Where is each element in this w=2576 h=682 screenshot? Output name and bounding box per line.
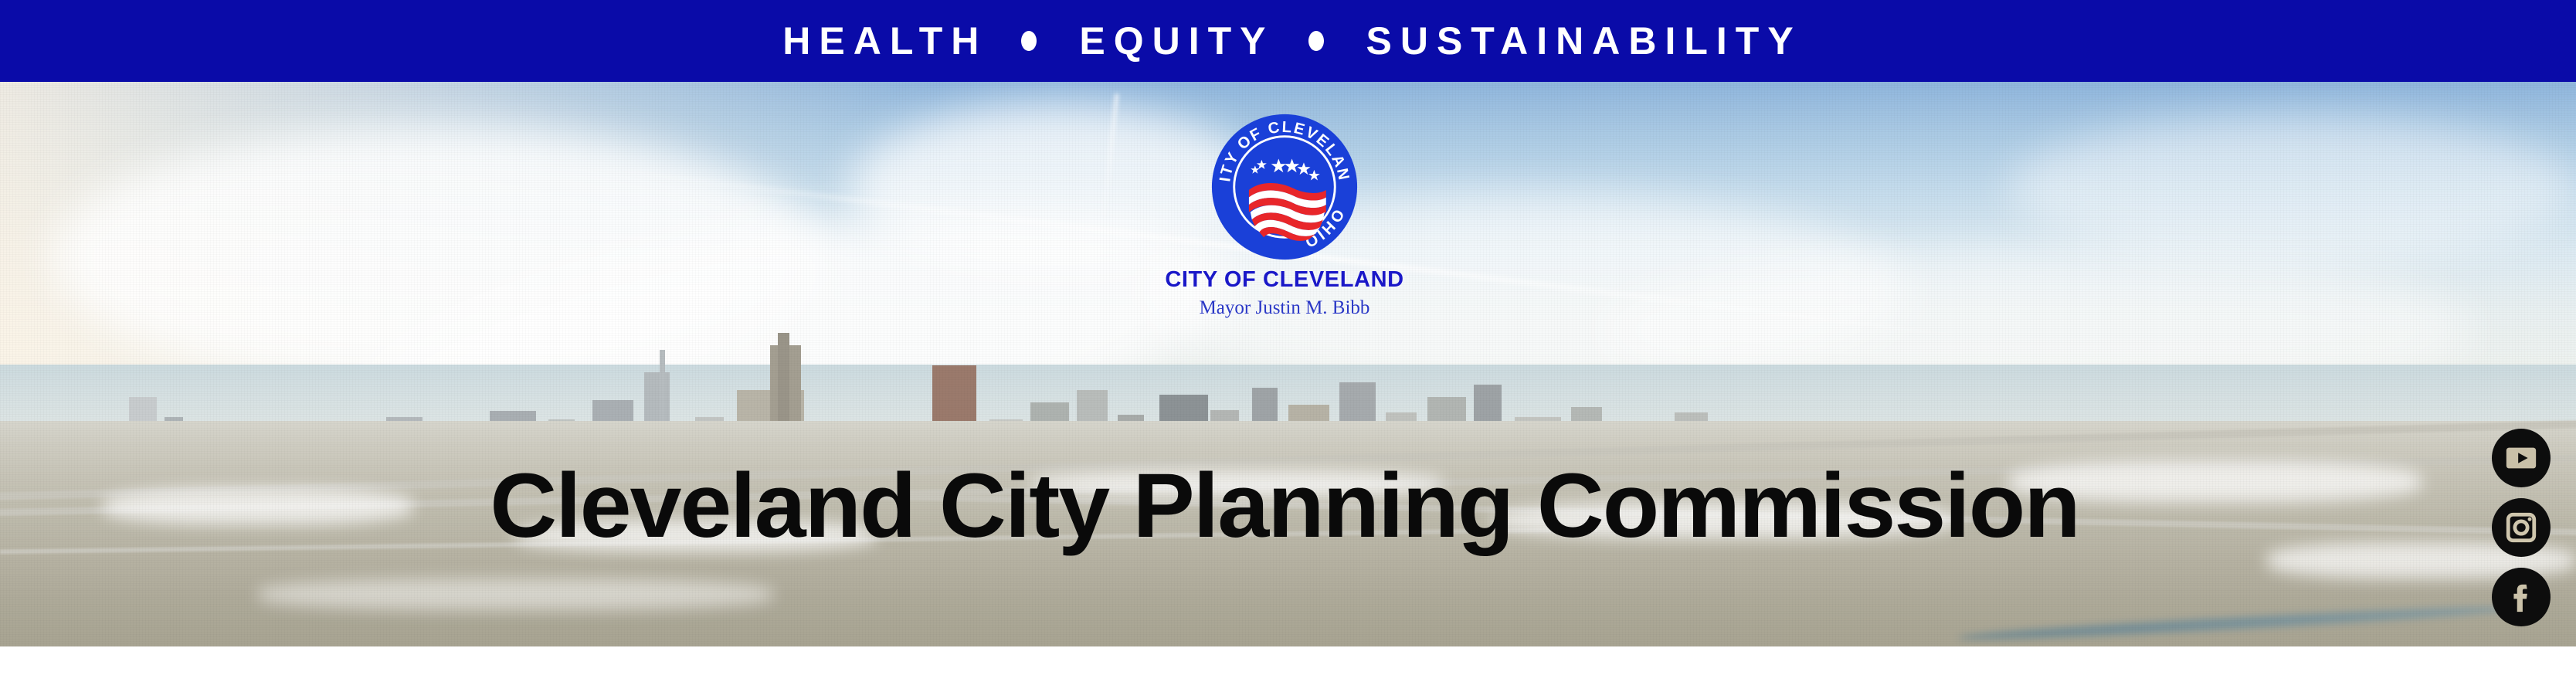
tagline-word-sustainability: SUSTAINABILITY [1358, 22, 1802, 60]
city-of-cleveland-seal-icon: CITY OF CLEVELAND OHIO [1210, 113, 1359, 261]
mayor-name-label: Mayor Justin M. Bibb [1037, 298, 1532, 317]
dot-separator-icon [1308, 31, 1324, 51]
city-name-label: CITY OF CLEVELAND [1037, 269, 1532, 291]
page-root: HEALTH EQUITY SUSTAINABILITY [0, 0, 2576, 682]
tagline-word-equity: EQUITY [1071, 22, 1274, 60]
facebook-link[interactable] [2492, 568, 2551, 626]
dot-separator-icon [1021, 31, 1037, 51]
instagram-icon [2503, 510, 2539, 545]
facebook-icon [2503, 579, 2539, 615]
tagline-banner-inner: HEALTH EQUITY SUSTAINABILITY [774, 22, 1801, 60]
page-title-text: Cleveland City Planning Commission [490, 460, 2079, 551]
youtube-icon [2503, 440, 2539, 476]
tagline-word-health: HEALTH [774, 22, 987, 60]
city-branding-block: CITY OF CLEVELAND OHIO [1037, 113, 1532, 317]
social-links [2491, 429, 2551, 626]
instagram-link[interactable] [2492, 498, 2551, 557]
footer-whitespace [0, 646, 2576, 682]
tagline-banner: HEALTH EQUITY SUSTAINABILITY [0, 0, 2576, 82]
page-title: Cleveland City Planning Commission [505, 460, 2063, 551]
youtube-link[interactable] [2492, 429, 2551, 487]
